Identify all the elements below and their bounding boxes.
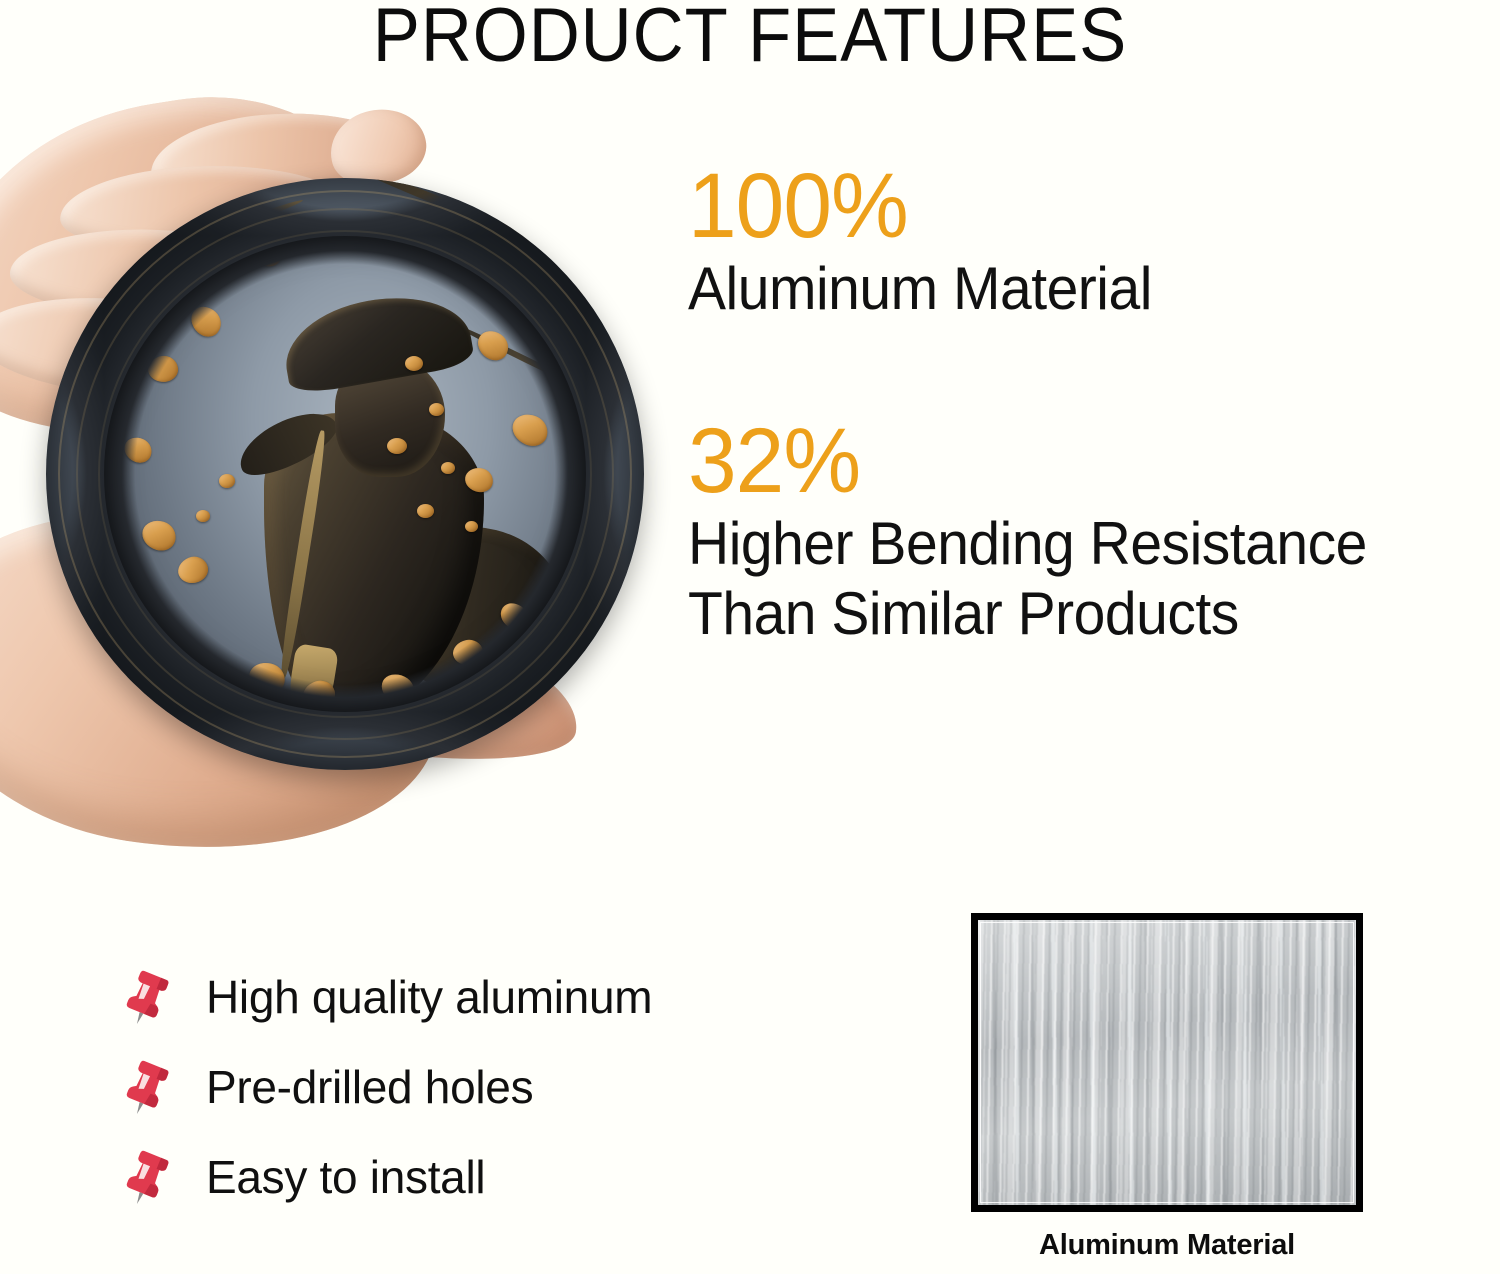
list-item: Pre-drilled holes <box>118 1042 652 1132</box>
page-title: PRODUCT FEATURES <box>53 0 1448 79</box>
list-item-label: Pre-drilled holes <box>206 1060 533 1114</box>
list-item-label: High quality aluminum <box>206 970 652 1024</box>
pushpin-icon <box>118 1146 178 1208</box>
sign-ring-texture <box>98 230 592 718</box>
pushpin-icon <box>118 966 178 1028</box>
stat-block-aluminum: 100% Aluminum Material <box>688 160 1488 323</box>
stat-block-bending: 32% Higher Bending Resistance Than Simil… <box>688 415 1488 648</box>
list-item: High quality aluminum <box>118 952 652 1042</box>
list-item-label: Easy to install <box>206 1150 485 1204</box>
round-metal-sign <box>46 178 644 770</box>
stat-number: 32% <box>688 415 1448 509</box>
product-features-infographic: PRODUCT FEATURES <box>0 0 1500 1274</box>
aluminum-swatch-box <box>971 913 1363 1212</box>
stat-description-line-2: Than Similar Products <box>688 579 1448 649</box>
pushpin-icon <box>118 1056 178 1118</box>
aluminum-swatch: Aluminum Material <box>971 913 1363 1262</box>
stat-description: Aluminum Material <box>688 254 1448 324</box>
list-item: Easy to install <box>118 1132 652 1222</box>
aluminum-swatch-caption: Aluminum Material <box>971 1229 1363 1262</box>
stat-description-line-1: Higher Bending Resistance <box>688 509 1448 579</box>
stat-number: 100% <box>688 160 1448 254</box>
aluminum-sheen-overlay <box>978 920 1356 1205</box>
stats-list: 100% Aluminum Material 32% Higher Bendin… <box>688 160 1488 702</box>
product-photo <box>0 96 660 816</box>
feature-bullet-list: High quality aluminum Pre-drilled holes <box>118 952 652 1222</box>
